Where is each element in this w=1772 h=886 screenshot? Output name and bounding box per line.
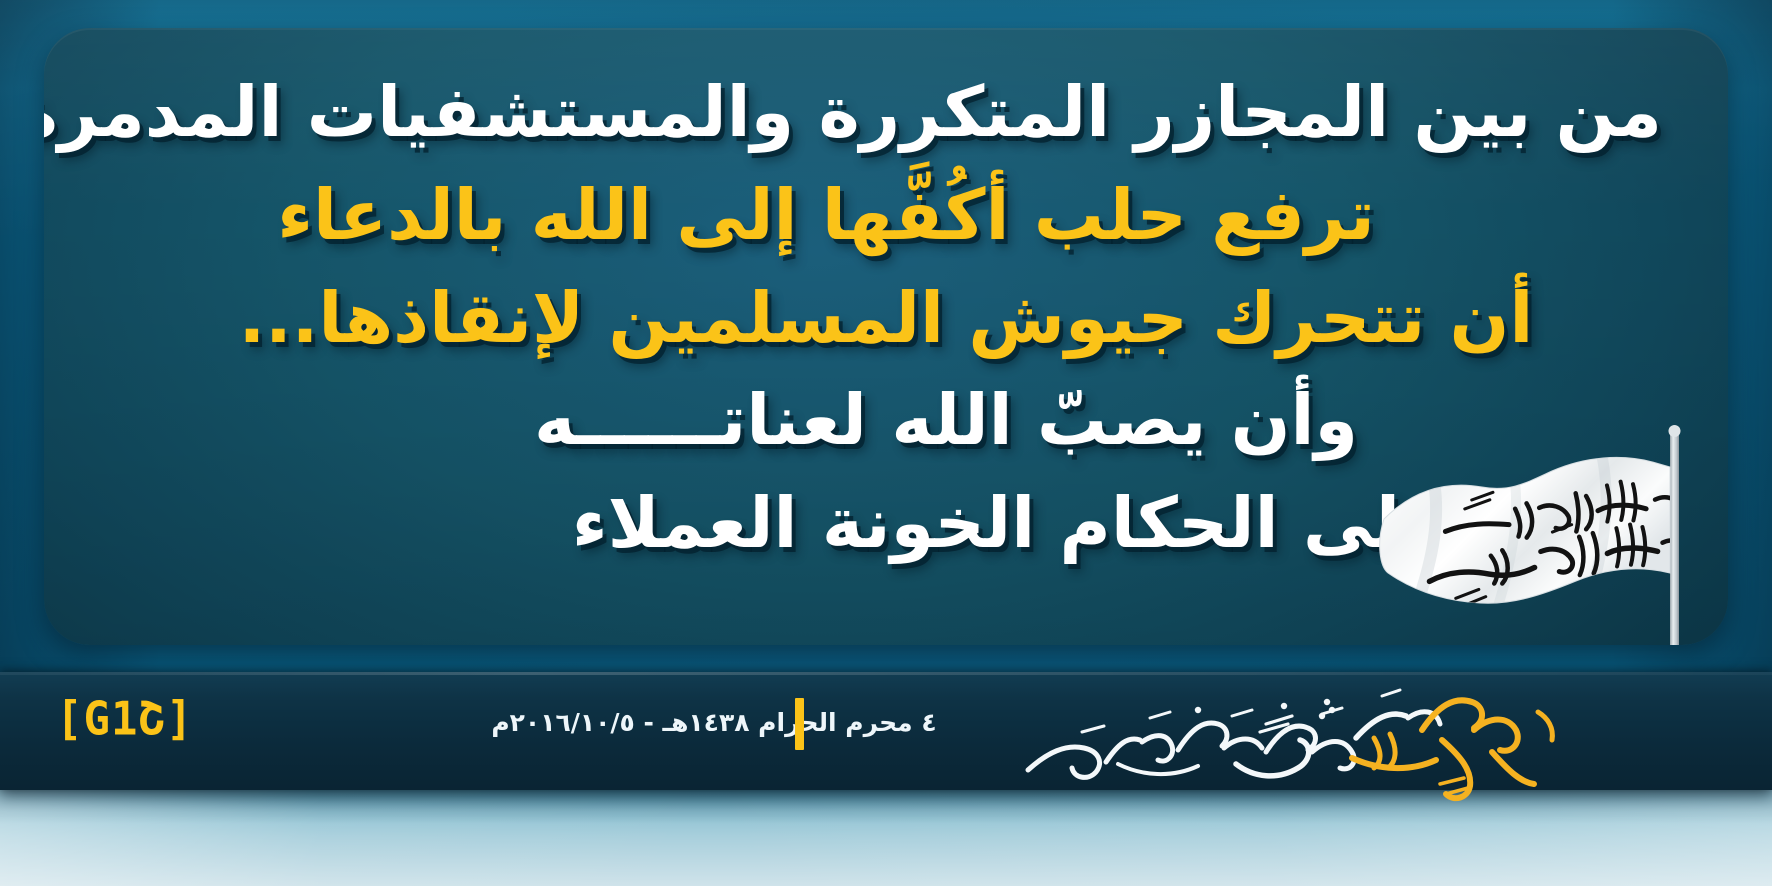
poster-root: من بين المجازر المتكررة والمستشفيات المد… (0, 0, 1772, 886)
headline-line-2: ترفع حلب أكُفَّها إلى الله بالدعاء (110, 165, 1662, 266)
headline-line-4: وأن يصبّ الله لعناتــــــه (110, 370, 1662, 471)
date-separator-bar (795, 698, 804, 750)
headline-line-3: أن تتحرك جيوش المسلمين لإنقاذها... (110, 268, 1662, 369)
headline-line-5: على الحكام الخونة العملاء (110, 473, 1662, 574)
headline-line-1: من بين المجازر المتكررة والمستشفيات المد… (110, 62, 1662, 163)
headline-block: من بين المجازر المتكررة والمستشفيات المد… (44, 28, 1728, 645)
author-signature (1022, 666, 1582, 806)
main-message-card: من بين المجازر المتكررة والمستشفيات المد… (44, 28, 1728, 645)
footer-bar: [G1Շ] ٤ محرم الحرام ١٤٣٨هـ - ٢٠١٦/١٠/٥م (0, 672, 1772, 790)
